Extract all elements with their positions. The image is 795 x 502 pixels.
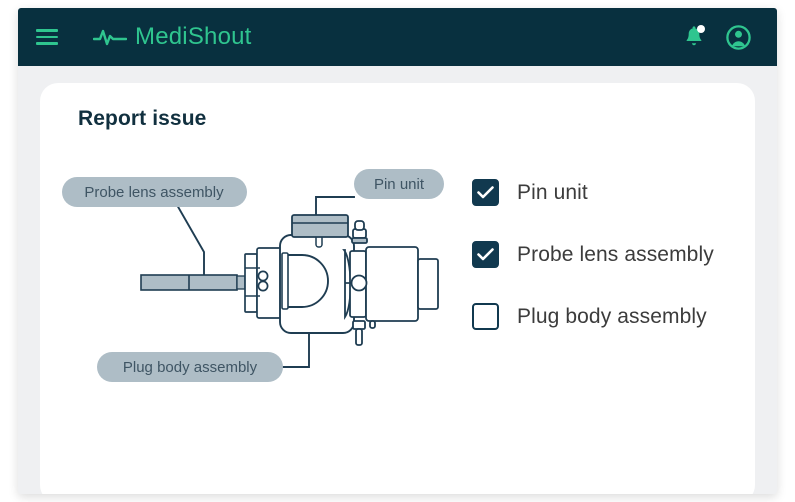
option-label-plug-body-assembly: Plug body assembly — [517, 305, 707, 329]
leader-line-plug-body — [282, 332, 309, 367]
option-row-probe-lens-assembly[interactable]: Probe lens assembly — [472, 241, 742, 268]
report-issue-card: Report issue — [40, 83, 755, 494]
issue-part-options-list: Pin unit Probe lens assembly — [472, 179, 742, 330]
account-person-icon — [726, 25, 751, 50]
option-row-pin-unit[interactable]: Pin unit — [472, 179, 742, 206]
account-button[interactable] — [726, 25, 751, 50]
screenshot-viewport: MediShout — [0, 0, 795, 502]
option-label-probe-lens-assembly: Probe lens assembly — [517, 243, 714, 267]
diagram-part-pin-unit — [292, 215, 348, 237]
brand-name: MediShout — [135, 23, 252, 51]
hamburger-line — [36, 42, 58, 45]
top-navigation-bar: MediShout — [18, 8, 777, 66]
checkbox-plug-body-assembly[interactable] — [472, 303, 499, 330]
notification-badge-dot — [697, 25, 705, 33]
option-row-plug-body-assembly[interactable]: Plug body assembly — [472, 303, 742, 330]
pulse-heartbeat-icon — [93, 27, 127, 47]
leader-line-probe-lens — [177, 205, 204, 275]
callout-pill-pin-unit[interactable]: Pin unit — [354, 169, 444, 199]
callout-label-plug-body: Plug body assembly — [123, 359, 258, 376]
callout-pill-plug-body[interactable]: Plug body assembly — [97, 352, 283, 382]
checkbox-probe-lens-assembly[interactable] — [472, 241, 499, 268]
page-title: Report issue — [78, 107, 206, 131]
diagram-part-collar — [245, 248, 283, 318]
diagram-part-barrel — [344, 221, 438, 345]
hamburger-menu-icon[interactable] — [36, 29, 58, 45]
option-label-pin-unit: Pin unit — [517, 181, 588, 205]
device-exploded-diagram: Probe lens assembly Pin unit Plug body a… — [54, 155, 454, 405]
app-frame: MediShout — [18, 8, 777, 494]
checkbox-pin-unit[interactable] — [472, 179, 499, 206]
hamburger-line — [36, 29, 58, 32]
notifications-button[interactable] — [684, 26, 704, 48]
callout-label-pin-unit: Pin unit — [374, 176, 425, 193]
callout-label-probe-lens: Probe lens assembly — [84, 184, 224, 201]
brand-logo[interactable]: MediShout — [93, 23, 252, 51]
check-icon — [477, 248, 494, 261]
check-icon — [477, 186, 494, 199]
hamburger-line — [36, 36, 58, 39]
diagram-part-probe-shaft — [141, 275, 245, 290]
callout-pill-probe-lens[interactable]: Probe lens assembly — [62, 177, 247, 207]
topbar-actions — [684, 25, 751, 50]
